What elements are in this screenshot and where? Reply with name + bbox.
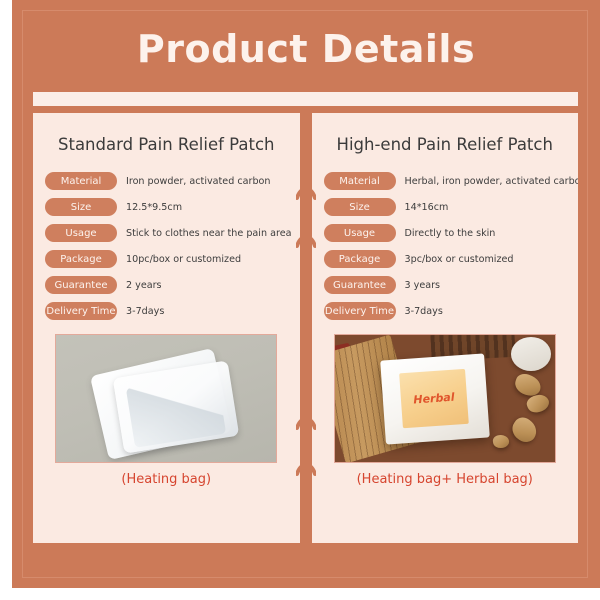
spec-value-package: 10pc/box or customized	[126, 254, 241, 265]
spec-pill-material: Material	[45, 172, 117, 190]
spec-value-material: Iron powder, activated carbon	[126, 176, 270, 187]
product-photo-standard	[55, 334, 277, 463]
spec-pill-delivery-time: Delivery Time	[324, 302, 396, 320]
product-photo-high-end: Herbal	[334, 334, 556, 463]
spec-value-usage: Stick to clothes near the pain area	[126, 228, 292, 239]
spec-value-material: Herbal, iron powder, activated carbon	[405, 176, 579, 187]
spec-value-size: 14*16cm	[405, 202, 449, 213]
spec-pill-usage: Usage	[324, 224, 396, 242]
title-underline-strip	[33, 92, 578, 106]
photo-caption-standard: (Heating bag)	[121, 472, 211, 487]
photo-herbal-backdrop: Herbal	[335, 335, 555, 462]
spec-value-package: 3pc/box or customized	[405, 254, 514, 265]
spec-pill-material: Material	[324, 172, 396, 190]
spec-pill-package: Package	[45, 250, 117, 268]
photo-standard-backdrop	[56, 335, 276, 462]
spec-value-guarantee: 2 years	[126, 280, 162, 291]
page-title: Product Details	[137, 27, 475, 71]
ginger-piece	[492, 434, 510, 449]
spec-row-material: Material Herbal, iron powder, activated …	[312, 172, 579, 190]
spec-row-guarantee: Guarantee 3 years	[312, 276, 579, 294]
ginger-piece	[508, 414, 541, 446]
spec-row-usage: Usage Stick to clothes near the pain are…	[33, 224, 300, 242]
spec-pill-usage: Usage	[45, 224, 117, 242]
spec-value-guarantee: 3 years	[405, 280, 441, 291]
spec-pill-guarantee: Guarantee	[45, 276, 117, 294]
herbal-sachet: Herbal	[380, 353, 490, 444]
panel-title-standard: Standard Pain Relief Patch	[54, 113, 278, 158]
panels-container: Standard Pain Relief Patch Material Iron…	[33, 113, 578, 543]
spec-list-high-end: Material Herbal, iron powder, activated …	[312, 158, 579, 320]
spec-row-package: Package 10pc/box or customized	[33, 250, 300, 268]
spec-row-material: Material Iron powder, activated carbon	[33, 172, 300, 190]
spec-row-package: Package 3pc/box or customized	[312, 250, 579, 268]
spec-value-delivery-time: 3-7days	[126, 306, 164, 317]
spec-pill-size: Size	[324, 198, 396, 216]
white-bowl	[511, 337, 551, 371]
panel-standard: Standard Pain Relief Patch Material Iron…	[33, 113, 300, 543]
spec-list-standard: Material Iron powder, activated carbon S…	[33, 158, 300, 320]
spec-row-guarantee: Guarantee 2 years	[33, 276, 300, 294]
spec-value-usage: Directly to the skin	[405, 228, 496, 239]
photo-caption-high-end: (Heating bag+ Herbal bag)	[357, 472, 533, 487]
panel-title-high-end: High-end Pain Relief Patch	[333, 113, 557, 158]
spec-pill-package: Package	[324, 250, 396, 268]
spec-row-delivery-time: Delivery Time 3-7days	[33, 302, 300, 320]
spec-value-delivery-time: 3-7days	[405, 306, 443, 317]
spec-pill-guarantee: Guarantee	[324, 276, 396, 294]
spec-row-delivery-time: Delivery Time 3-7days	[312, 302, 579, 320]
header-title-bar: Product Details	[12, 18, 600, 80]
spec-value-size: 12.5*9.5cm	[126, 202, 182, 213]
panel-high-end: High-end Pain Relief Patch Material Herb…	[312, 113, 579, 543]
spec-pill-delivery-time: Delivery Time	[45, 302, 117, 320]
sachet-inner-pad: Herbal	[399, 369, 469, 428]
sachet-label: Herbal	[413, 391, 455, 407]
spec-row-usage: Usage Directly to the skin	[312, 224, 579, 242]
spec-row-size: Size 12.5*9.5cm	[33, 198, 300, 216]
product-details-infographic: Product Details Standard Pain Relief Pat…	[0, 0, 600, 600]
spec-row-size: Size 14*16cm	[312, 198, 579, 216]
spec-pill-size: Size	[45, 198, 117, 216]
